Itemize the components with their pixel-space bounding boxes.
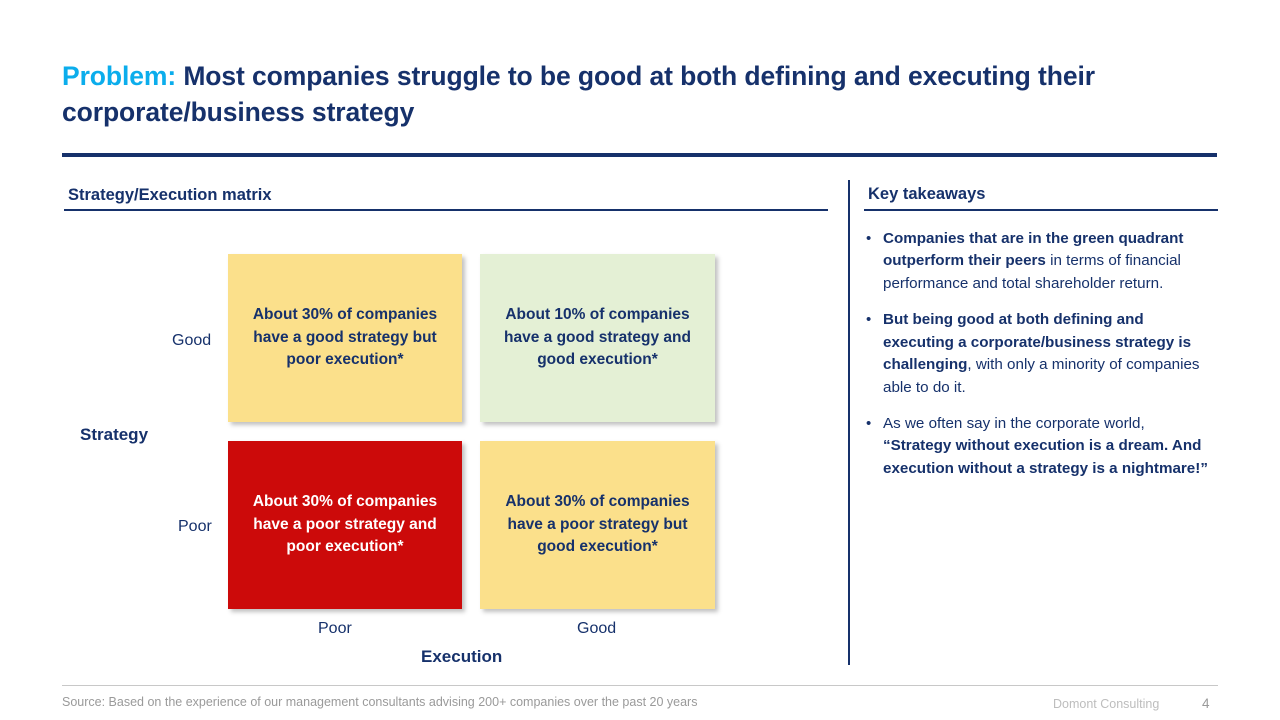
bullet-icon: • [866, 413, 883, 435]
footer-brand: Domont Consulting [1053, 697, 1159, 711]
takeaway-item: •Companies that are in the green quadran… [866, 228, 1216, 295]
takeaway-text: As we often say in the corporate world, … [883, 413, 1216, 480]
takeaways-section-divider [864, 209, 1218, 211]
page-title: Problem: Most companies struggle to be g… [62, 58, 1217, 130]
x-axis-tick-poor: Poor [318, 620, 352, 638]
bullet-icon: • [866, 309, 883, 331]
title-text: Most companies struggle to be good at bo… [62, 61, 1095, 127]
quadrant-poor-strategy-poor-execution[interactable]: About 30% of companies have a poor strat… [228, 441, 462, 609]
quadrant-good-strategy-good-execution[interactable]: About 10% of companies have a good strat… [480, 254, 715, 422]
takeaway-text: Companies that are in the green quadrant… [883, 228, 1216, 295]
quadrant-good-strategy-poor-execution[interactable]: About 30% of companies have a good strat… [228, 254, 462, 422]
takeaway-item: •As we often say in the corporate world,… [866, 413, 1216, 480]
x-axis-title: Execution [421, 647, 502, 667]
matrix-section-header: Strategy/Execution matrix [68, 186, 272, 205]
y-axis-title: Strategy [80, 425, 148, 445]
page-number: 4 [1202, 696, 1210, 711]
y-axis-tick-good: Good [172, 332, 211, 350]
title-accent: Problem: [62, 61, 176, 91]
panel-divider [848, 180, 850, 665]
takeaway-item: •But being good at both defining and exe… [866, 309, 1216, 399]
title-divider [62, 153, 1217, 157]
quadrant-poor-strategy-good-execution[interactable]: About 30% of companies have a poor strat… [480, 441, 715, 609]
footer-divider [62, 685, 1218, 686]
slide: Problem: Most companies struggle to be g… [0, 0, 1280, 720]
takeaway-text: But being good at both defining and exec… [883, 309, 1216, 399]
bullet-icon: • [866, 228, 883, 250]
takeaways-list: •Companies that are in the green quadran… [866, 228, 1216, 494]
x-axis-tick-good: Good [577, 620, 616, 638]
footer-source: Source: Based on the experience of our m… [62, 695, 697, 709]
takeaways-section-header: Key takeaways [868, 185, 985, 204]
y-axis-tick-poor: Poor [178, 518, 212, 536]
matrix-section-divider [64, 209, 828, 211]
